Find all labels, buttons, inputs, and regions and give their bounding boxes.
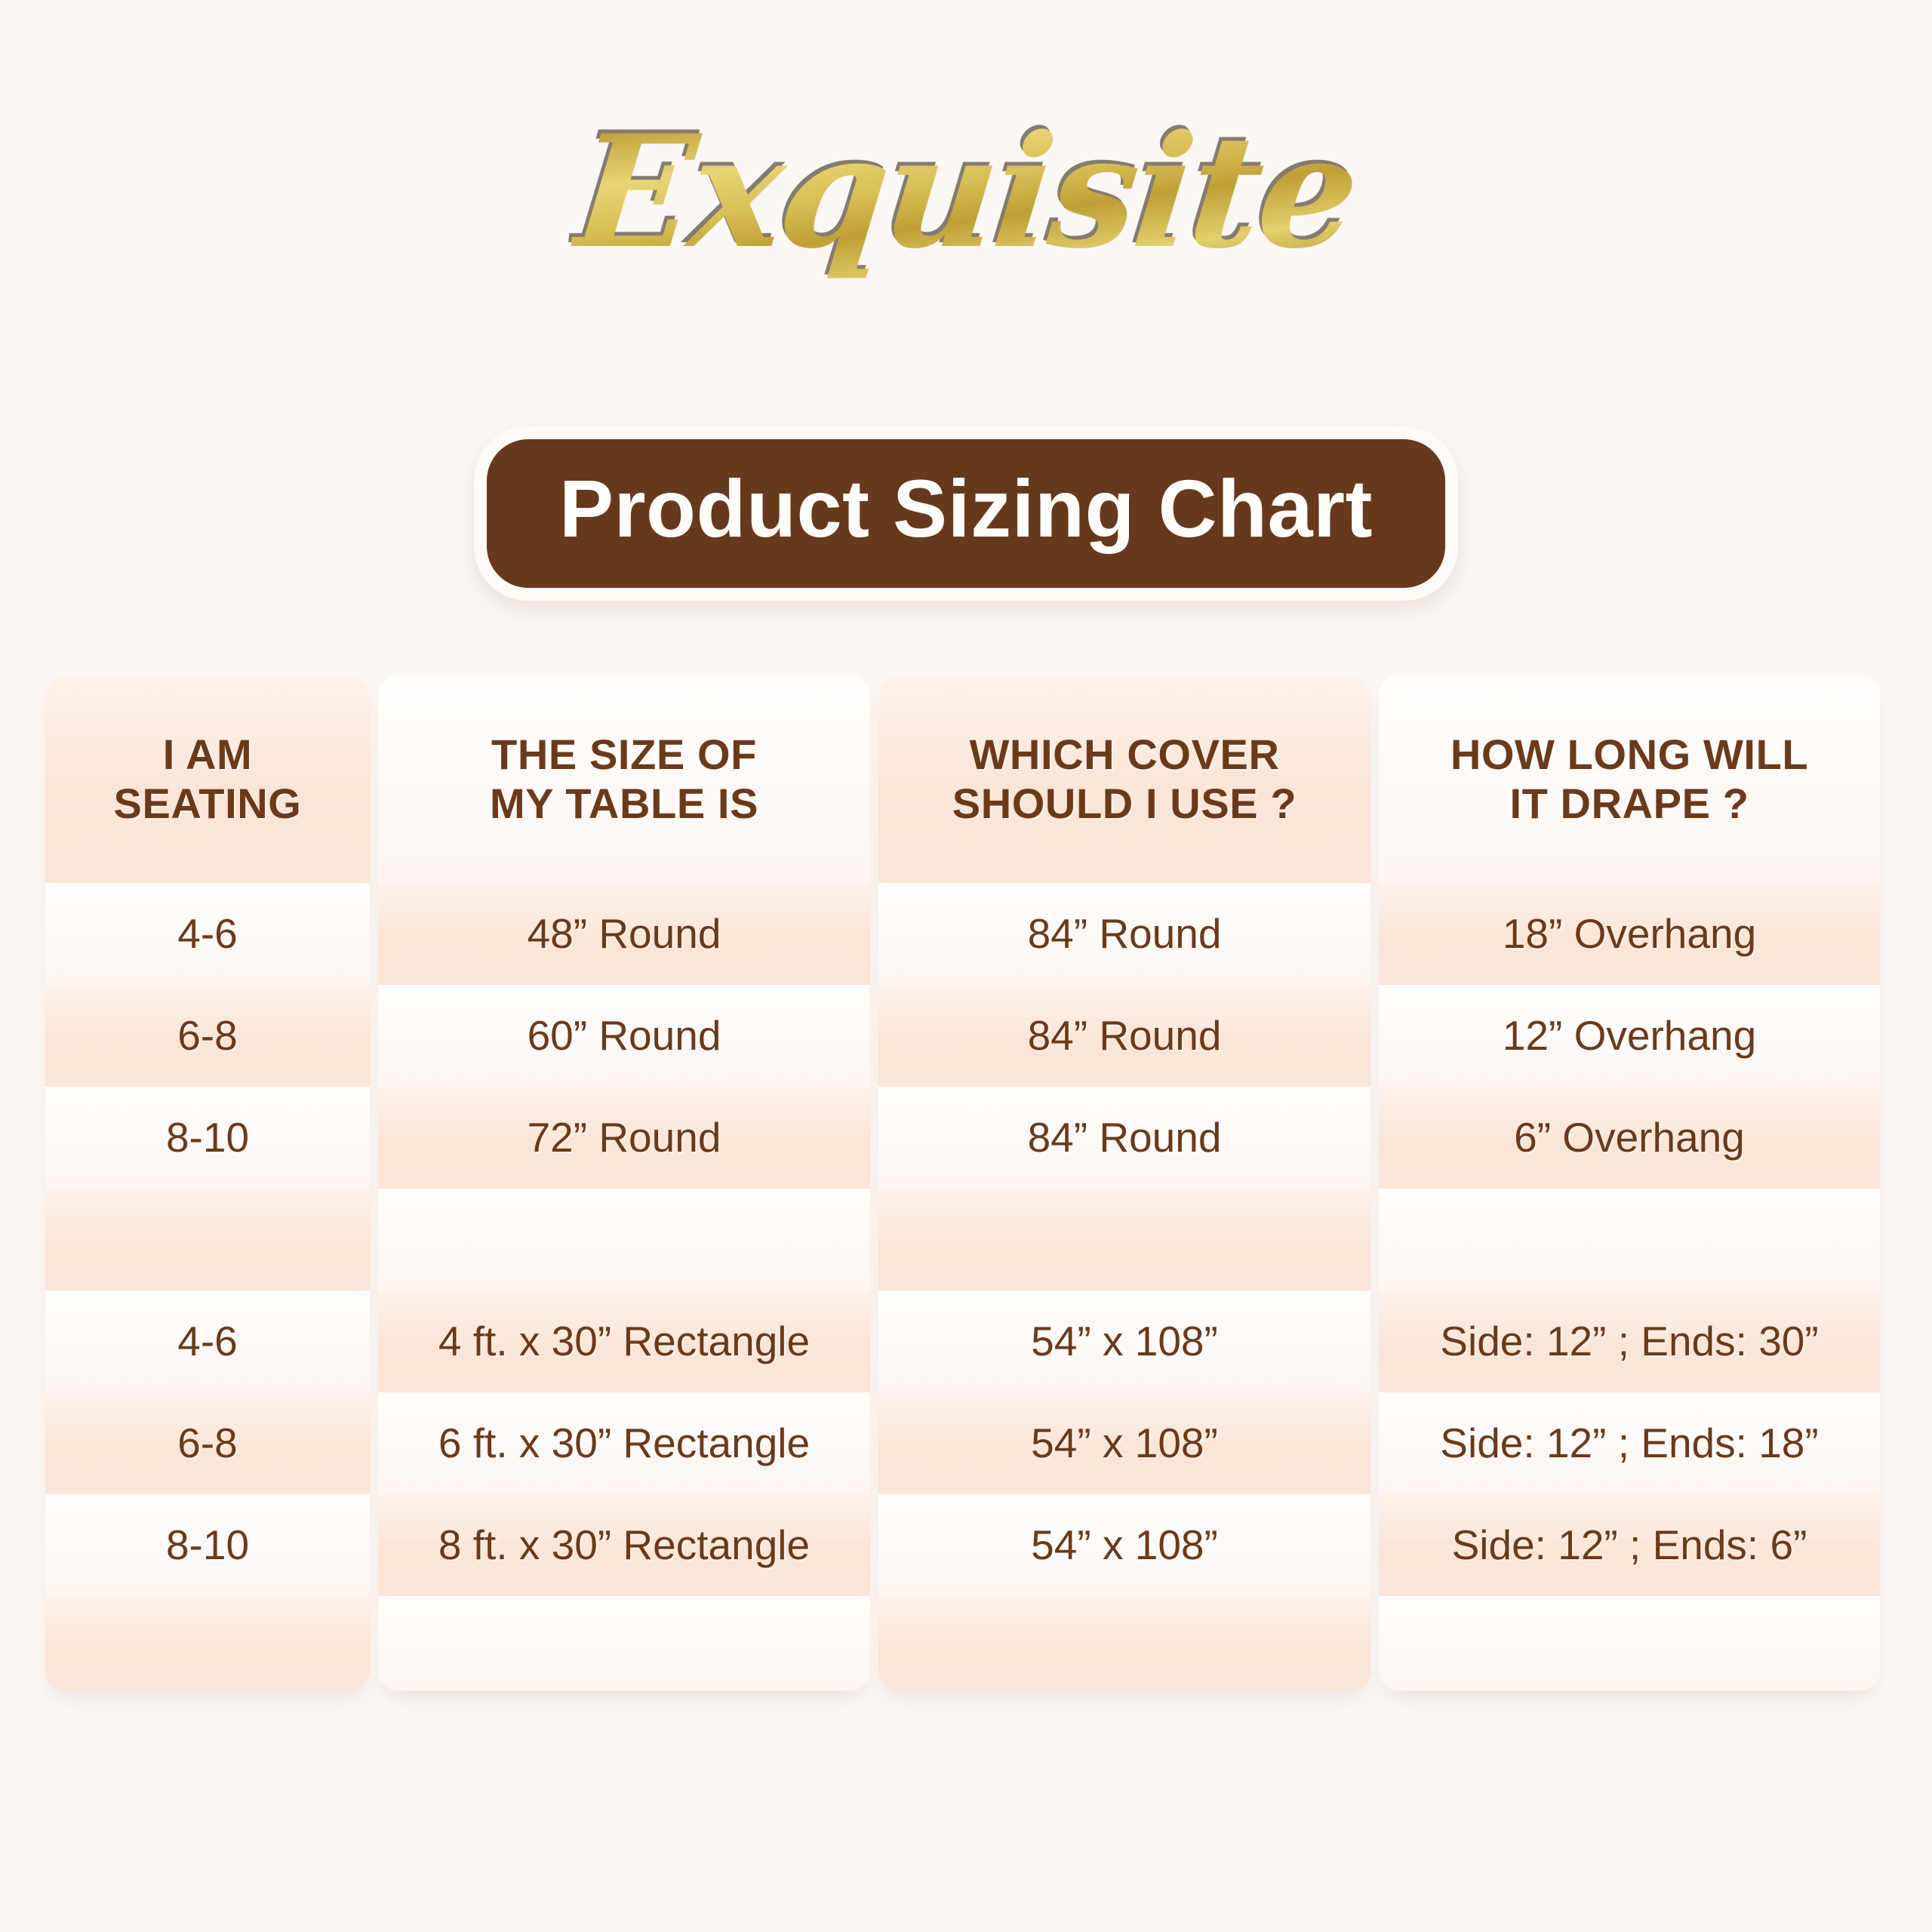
cell-cover: 84” Round: [1028, 1013, 1222, 1059]
column-header-line1: WHICH COVER: [952, 731, 1297, 780]
column-card-cover: WHICH COVER SHOULD I USE ? 84” Round 84”…: [878, 675, 1371, 1690]
cell-table-size: 8 ft. x 30” Rectangle: [438, 1522, 810, 1568]
brand-logo: Exquisite: [0, 68, 1932, 317]
table-row: 60” Round: [378, 985, 870, 1087]
cell-seating: 8-10: [166, 1522, 249, 1568]
cell-seating: 4-6: [177, 1318, 238, 1364]
table-row: 4-6: [45, 883, 370, 985]
table-row: 72” Round: [378, 1087, 870, 1189]
table-row: 54” x 108”: [878, 1392, 1371, 1494]
table-row: 4-6: [45, 1291, 370, 1392]
table-row: 84” Round: [878, 985, 1371, 1087]
card-footer-band: [1379, 1596, 1880, 1690]
table-row: 8-10: [45, 1494, 370, 1596]
cell-cover: 84” Round: [1028, 1115, 1222, 1161]
card-footer-band: [378, 1596, 870, 1690]
column-card-table-size: THE SIZE OF MY TABLE IS 48” Round 60” Ro…: [378, 675, 870, 1690]
column-header-table-size: THE SIZE OF MY TABLE IS: [378, 675, 870, 883]
table-row: 8 ft. x 30” Rectangle: [378, 1494, 870, 1596]
column-header-line2: SEATING: [114, 780, 302, 829]
table-row: 6 ft. x 30” Rectangle: [378, 1392, 870, 1494]
section-spacer: [878, 1189, 1371, 1291]
cell-cover: 84” Round: [1028, 911, 1222, 957]
section-spacer: [1379, 1189, 1880, 1291]
cell-table-size: 72” Round: [528, 1115, 721, 1161]
column-header-line1: HOW LONG WILL: [1451, 731, 1808, 780]
sizing-chart-table: I AM SEATING 4-6 6-8 8-10 4-6 6-8 8-10 T…: [45, 675, 1887, 1690]
page-title: Product Sizing Chart: [474, 426, 1458, 601]
cell-table-size: 4 ft. x 30” Rectangle: [438, 1318, 810, 1364]
table-row: 84” Round: [878, 883, 1371, 985]
cell-drape: Side: 12” ; Ends: 6”: [1452, 1522, 1807, 1568]
column-header-line2: SHOULD I USE ?: [952, 780, 1297, 829]
column-card-seating: I AM SEATING 4-6 6-8 8-10 4-6 6-8 8-10: [45, 675, 370, 1690]
cell-table-size: 48” Round: [528, 911, 721, 957]
cell-table-size: 6 ft. x 30” Rectangle: [438, 1420, 810, 1466]
section-spacer: [45, 1189, 370, 1291]
cell-seating: 4-6: [177, 911, 238, 957]
column-card-drape: HOW LONG WILL IT DRAPE ? 18” Overhang 12…: [1379, 675, 1880, 1690]
brand-logo-text: Exquisite: [568, 102, 1364, 283]
cell-table-size: 60” Round: [528, 1013, 721, 1059]
table-row: 8-10: [45, 1087, 370, 1189]
column-header-cover: WHICH COVER SHOULD I USE ?: [878, 675, 1371, 883]
table-row: 48” Round: [378, 883, 870, 985]
cell-seating: 6-8: [177, 1013, 238, 1059]
column-header-seating: I AM SEATING: [45, 675, 370, 883]
cell-drape: Side: 12” ; Ends: 30”: [1440, 1318, 1818, 1364]
table-row: 54” x 108”: [878, 1291, 1371, 1392]
table-row: 4 ft. x 30” Rectangle: [378, 1291, 870, 1392]
table-row: 18” Overhang: [1379, 883, 1880, 985]
table-row: 12” Overhang: [1379, 985, 1880, 1087]
column-header-line1: THE SIZE OF: [490, 731, 758, 780]
cell-cover: 54” x 108”: [1031, 1420, 1218, 1466]
table-row: Side: 12” ; Ends: 18”: [1379, 1392, 1880, 1494]
cell-drape: Side: 12” ; Ends: 18”: [1440, 1420, 1818, 1466]
table-row: 84” Round: [878, 1087, 1371, 1189]
table-row: 54” x 108”: [878, 1494, 1371, 1596]
table-row: 6-8: [45, 1392, 370, 1494]
section-spacer: [378, 1189, 870, 1291]
card-footer-band: [878, 1596, 1371, 1690]
card-footer-band: [45, 1596, 370, 1690]
cell-drape: 6” Overhang: [1514, 1115, 1745, 1161]
column-header-line2: MY TABLE IS: [490, 780, 758, 829]
cell-drape: 18” Overhang: [1503, 911, 1756, 957]
table-row: Side: 12” ; Ends: 30”: [1379, 1291, 1880, 1392]
cell-seating: 6-8: [177, 1420, 238, 1466]
column-header-line1: I AM: [114, 731, 302, 780]
cell-cover: 54” x 108”: [1031, 1522, 1218, 1568]
table-row: 6-8: [45, 985, 370, 1087]
table-row: 6” Overhang: [1379, 1087, 1880, 1189]
column-header-line2: IT DRAPE ?: [1451, 780, 1808, 829]
column-header-drape: HOW LONG WILL IT DRAPE ?: [1379, 675, 1880, 883]
cell-cover: 54” x 108”: [1031, 1318, 1218, 1364]
cell-seating: 8-10: [166, 1115, 249, 1161]
page-title-banner: Product Sizing Chart: [0, 426, 1932, 601]
cell-drape: 12” Overhang: [1503, 1013, 1756, 1059]
table-row: Side: 12” ; Ends: 6”: [1379, 1494, 1880, 1596]
